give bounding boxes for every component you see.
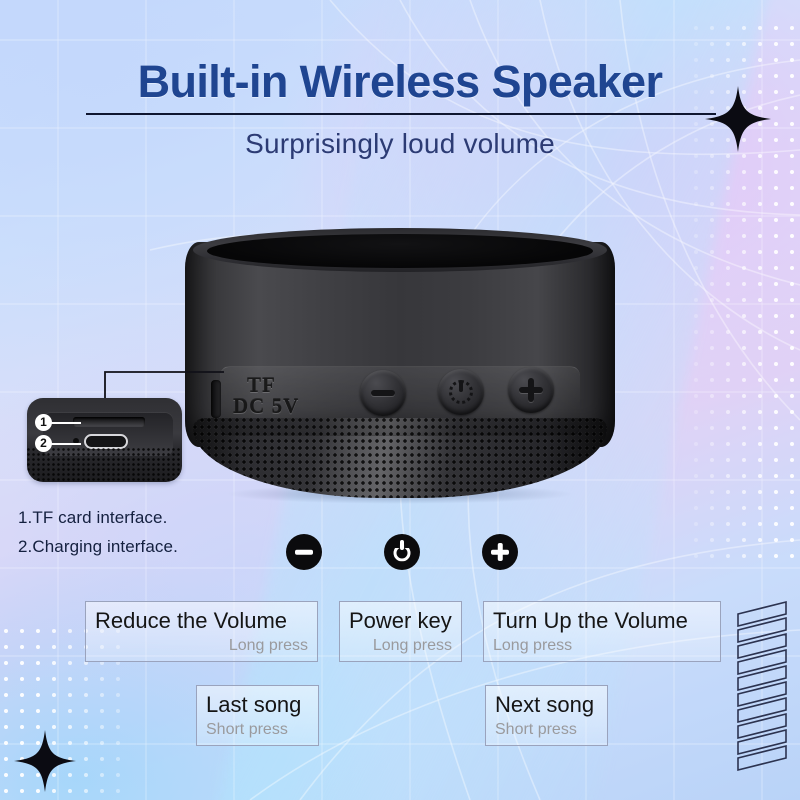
function-box-last-song: Last song Short press xyxy=(196,685,319,746)
function-press-type: Long press xyxy=(493,635,711,657)
speaker-power-button[interactable] xyxy=(438,369,484,415)
inset-badge-1: 1 xyxy=(35,414,52,431)
tf-card-slot-icon xyxy=(73,417,145,427)
function-box-next-song: Next song Short press xyxy=(485,685,608,746)
speaker-top-cavity xyxy=(207,234,593,268)
volume-down-icon[interactable] xyxy=(286,534,322,570)
inset-leader-1 xyxy=(51,422,81,424)
power-key-icon[interactable] xyxy=(384,534,420,570)
minus-bar-icon xyxy=(295,550,313,555)
plus-bar-v-icon xyxy=(498,543,503,561)
port-detail-inset: 1 2 xyxy=(27,398,182,482)
volume-up-icon[interactable] xyxy=(482,534,518,570)
function-label: Last song xyxy=(206,691,309,719)
function-press-type: Long press xyxy=(349,635,452,657)
sparkle-bottom-left-icon xyxy=(12,728,78,794)
infographic-canvas: Built-in Wireless Speaker Surprisingly l… xyxy=(0,0,800,800)
function-label: Power key xyxy=(349,607,452,635)
plus-glyph-v-icon xyxy=(528,378,534,402)
function-label: Next song xyxy=(495,691,598,719)
inset-badge-2: 2 xyxy=(35,435,52,452)
power-stem-icon xyxy=(400,540,404,550)
function-press-type: Short press xyxy=(495,719,598,741)
speaker-plus-button[interactable] xyxy=(508,367,554,413)
function-label: Reduce the Volume xyxy=(95,607,308,635)
function-label: Turn Up the Volume xyxy=(493,607,711,635)
minus-glyph-icon xyxy=(371,390,395,396)
function-box-power-key: Power key Long press xyxy=(339,601,462,662)
inset-leader-2 xyxy=(51,443,81,445)
power-glyph-icon xyxy=(449,380,473,404)
function-box-turn-up-volume: Turn Up the Volume Long press xyxy=(483,601,721,662)
function-box-reduce-volume: Reduce the Volume Long press xyxy=(85,601,318,662)
function-press-type: Short press xyxy=(206,719,309,741)
speaker-minus-button[interactable] xyxy=(360,370,406,416)
caption-charging: 2.Charging interface. xyxy=(18,537,178,557)
function-press-type: Long press xyxy=(95,635,308,657)
zigzag-stripes-icon xyxy=(730,598,794,776)
usb-c-port-icon xyxy=(84,434,128,449)
caption-tf-card: 1.TF card interface. xyxy=(18,508,167,528)
